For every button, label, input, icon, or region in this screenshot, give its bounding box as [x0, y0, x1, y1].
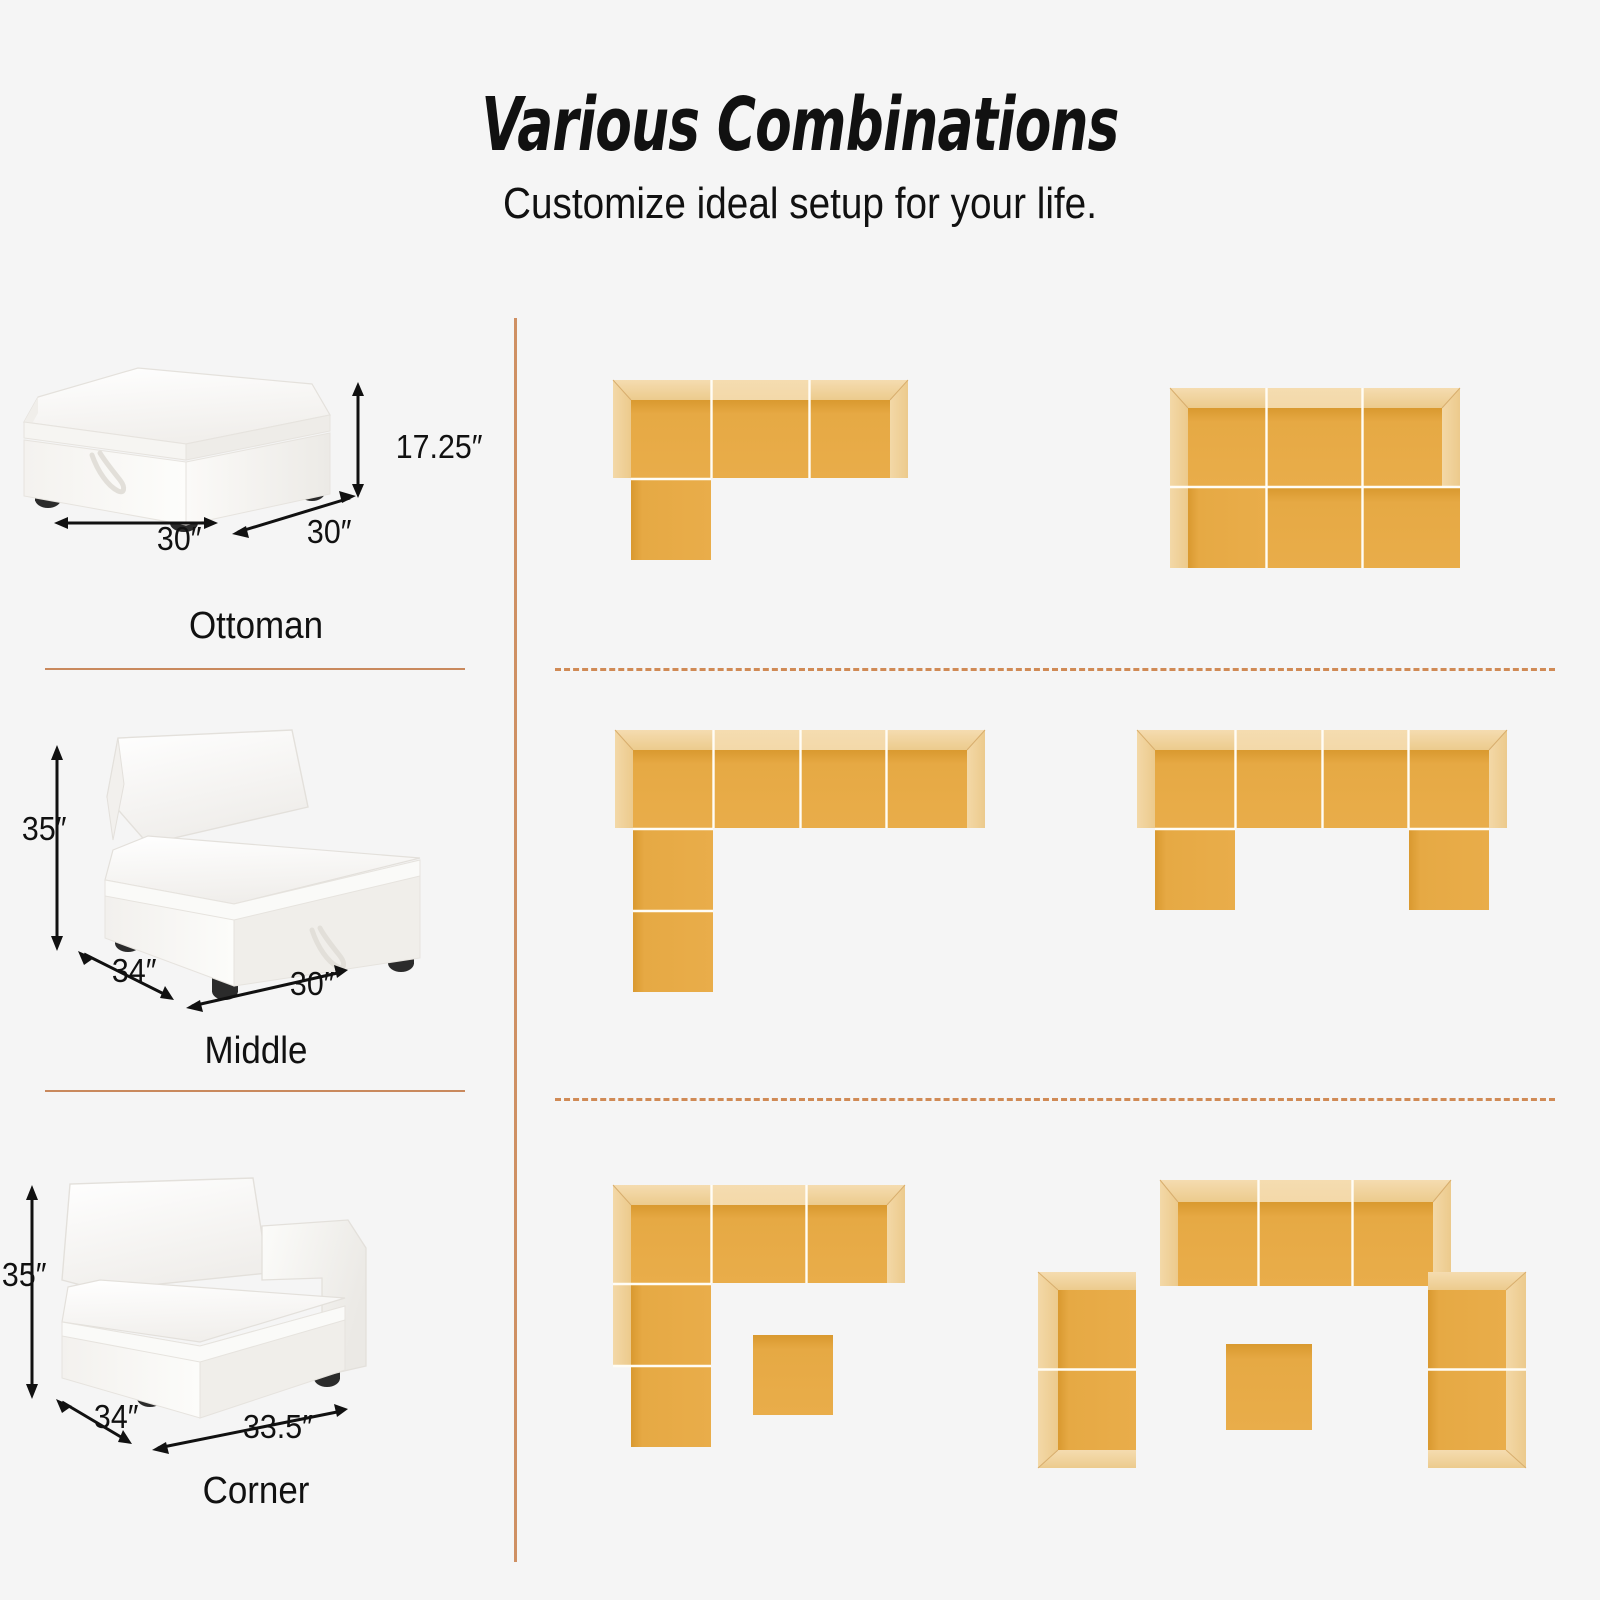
product-middle: 35″ 34″ 30″ Middle — [0, 690, 512, 1020]
config-divider-1 — [555, 668, 1555, 671]
middle-illustration — [0, 690, 512, 1020]
page-subtitle: Customize ideal setup for your life. — [96, 182, 1504, 226]
config-u-shape-6-piece — [1137, 730, 1517, 930]
corner-height-dim: 35″ — [2, 1256, 47, 1294]
ottoman-width-dim: 30″ — [157, 520, 202, 558]
corner-label: Corner — [20, 1470, 491, 1513]
config-divider-2 — [555, 1098, 1555, 1101]
ottoman-module — [753, 1335, 833, 1415]
product-ottoman: 17.25″ 30″ 30″ Ottoman — [0, 360, 512, 610]
config-double-row-6-piece — [1170, 388, 1470, 588]
page-title: Various Combinations — [160, 88, 1440, 162]
vertical-divider — [514, 318, 517, 1562]
back-cushion — [62, 1178, 268, 1290]
ottoman-depth-dim: 30″ — [307, 513, 352, 551]
ottoman-height-dim: 17.25″ — [396, 428, 483, 466]
corner-width-dim: 33.5″ — [243, 1408, 313, 1446]
middle-height-dim: 35″ — [22, 810, 67, 848]
config-l-shape-4-piece — [613, 380, 923, 610]
config-l-shape-with-ottoman — [613, 1185, 933, 1475]
back-cushion — [107, 730, 308, 844]
middle-width-dim: 30″ — [290, 965, 335, 1003]
ottoman-illustration — [0, 360, 512, 610]
left-divider-2 — [45, 1090, 465, 1092]
left-divider-1 — [45, 668, 465, 670]
config-l-shape-6-piece — [615, 730, 995, 1020]
ottoman-module — [1226, 1344, 1312, 1430]
header: Various Combinations Customize ideal set… — [0, 0, 1600, 226]
ottoman-label: Ottoman — [20, 605, 491, 648]
product-corner: 35″ 34″ 33.5″ Corner — [0, 1130, 512, 1460]
middle-label: Middle — [20, 1030, 491, 1073]
corner-depth-dim: 34″ — [94, 1398, 139, 1436]
middle-depth-dim: 34″ — [112, 952, 157, 990]
config-conversation-set — [1000, 1180, 1545, 1480]
